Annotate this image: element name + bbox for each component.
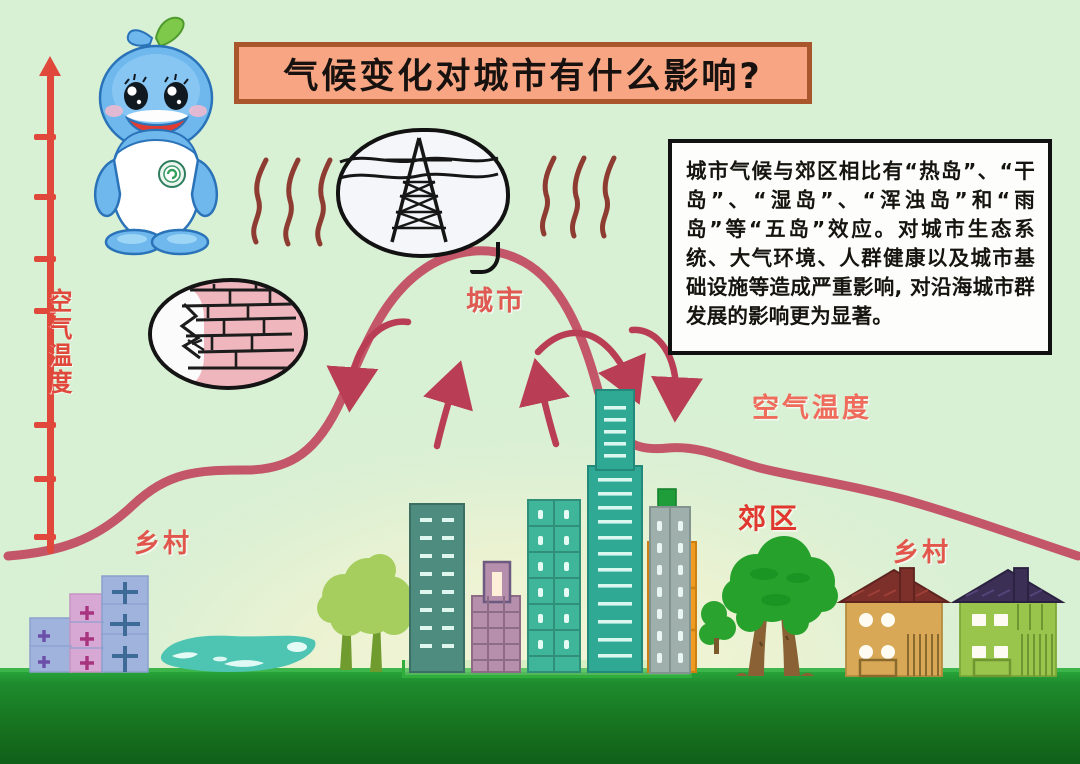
page-title: 气候变化对城市有什么影响?: [283, 48, 762, 99]
label-city: 城市: [466, 279, 526, 318]
house-tan: [840, 568, 948, 676]
axis-tick: [34, 194, 56, 200]
infographic-poster: 空气温度 气候变化对城市有什么影响? 城市气候与郊区相比有“热岛”、“干岛”、“…: [0, 0, 1080, 764]
transmission-tower-icon: [340, 132, 498, 246]
info-box-text: 城市气候与郊区相比有“热岛”、“干岛”、“湿岛”、“浑浊岛”和“雨岛”等“五岛”…: [686, 157, 1035, 331]
village-right-houses: [838, 556, 1070, 676]
cracked-dry-wall-bubble: [148, 278, 308, 390]
axis-tick: [34, 476, 56, 482]
tower-teal-dark: [410, 504, 464, 672]
tower-mauve: [472, 562, 520, 672]
axis-tick: [34, 534, 56, 540]
dolphin-mascot-icon: [82, 12, 230, 260]
horizontal-axis-label: 空气温度: [752, 386, 872, 425]
house-green: [954, 568, 1062, 676]
title-banner: 气候变化对城市有什么影响?: [234, 42, 812, 104]
transmission-tower-bubble: [336, 128, 510, 258]
axis-tick: [34, 256, 56, 262]
vertical-axis-label: 空气温度: [39, 288, 73, 396]
heat-wave-icon: [534, 156, 628, 236]
label-village-left: 乡村: [134, 523, 192, 560]
tower-teal-tall: [588, 390, 642, 672]
heat-wave-icon: [246, 158, 346, 244]
axis-tick: [34, 422, 56, 428]
label-suburb: 郊区: [738, 497, 800, 537]
tower-teal-grid: [528, 500, 580, 672]
axis-tick: [34, 134, 56, 140]
info-box: 城市气候与郊区相比有“热岛”、“干岛”、“湿岛”、“浑浊岛”和“雨岛”等“五岛”…: [668, 139, 1052, 355]
village-left-buildings: [26, 560, 156, 672]
bush-icon: [700, 592, 734, 654]
tower-grey: [648, 485, 692, 673]
cracked-dry-wall-icon: [152, 282, 298, 380]
ground: [0, 672, 1080, 764]
vertical-temperature-axis: 空气温度: [29, 56, 89, 556]
lake-icon: [158, 620, 320, 676]
